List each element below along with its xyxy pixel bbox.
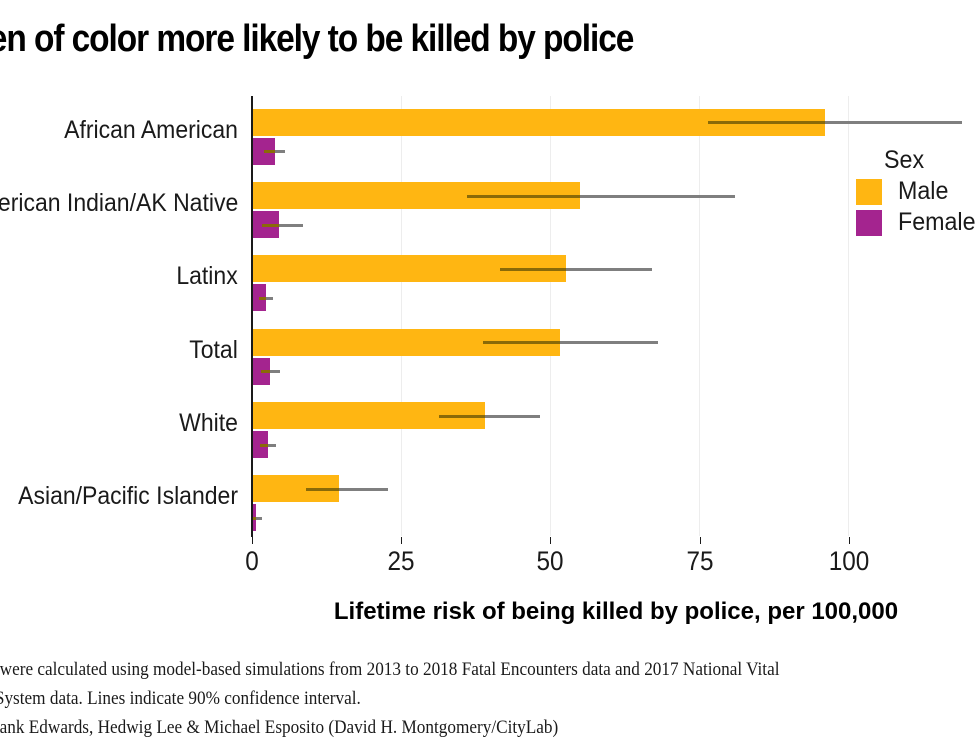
ci-line-female-4-inside [260,444,268,447]
ci-line-female-1-inside [262,224,279,227]
gridline-100 [848,96,849,536]
legend-swatch-male [856,179,882,205]
legend-item-female[interactable]: Female [856,208,980,237]
footnote: ables were calculated using model-based … [0,656,918,743]
legend-swatch-female [856,210,882,236]
x-tick-label-1: 25 [365,546,437,577]
footnote-line-2: stics System data. Lines indicate 90% co… [0,685,918,714]
ci-line-female-3-inside [261,370,271,373]
x-tick-mark-1 [401,537,402,544]
x-tick-label-2: 50 [514,546,586,577]
ci-line-female-0-outside [275,150,285,153]
ci-line-female-2-outside [266,297,273,300]
footnote-line-1: ables were calculated using model-based … [0,656,918,685]
ci-line-male-5-inside [306,488,339,491]
ci-line-female-3-outside [270,370,280,373]
ci-line-male-0-inside [708,121,824,124]
y-tick-label-1: erican Indian/AK Native [0,189,238,218]
gridline-25 [401,96,402,536]
x-tick-label-3: 75 [664,546,736,577]
y-tick-label-0: African American [64,116,238,145]
gridline-75 [699,96,700,536]
x-axis-title: Lifetime risk of being killed by police,… [252,598,980,626]
ci-line-female-4-outside [268,444,276,447]
x-tick-mark-3 [700,537,701,544]
y-axis-line [251,96,253,537]
legend-title: Sex [884,146,980,175]
ci-line-male-2-inside [500,268,566,271]
ci-line-male-2-outside [566,268,652,271]
y-tick-label-2: Latinx [177,262,238,291]
footnote-line-3: ce: Frank Edwards, Hedwig Lee & Michael … [0,714,918,743]
x-tick-mark-0 [252,537,253,544]
y-tick-label-5: Asian/Pacific Islander [18,482,238,511]
legend-item-male[interactable]: Male [856,177,980,206]
x-tick-mark-2 [550,537,551,544]
ci-line-male-1-outside [580,195,735,198]
chart-plot: African Americanerican Indian/AK NativeL… [0,0,980,660]
ci-line-female-5-outside [256,517,261,520]
legend-label-male: Male [898,177,948,206]
ci-line-male-0-outside [825,121,962,124]
y-tick-label-3: Total [189,336,238,365]
ci-line-male-1-inside [467,195,580,198]
legend-label-female: Female [898,208,976,237]
ci-line-female-0-inside [264,150,275,153]
ci-line-male-3-outside [560,341,658,344]
x-tick-label-4: 100 [813,546,885,577]
x-tick-mark-4 [849,537,850,544]
ci-line-female-1-outside [279,224,303,227]
ci-line-male-3-inside [483,341,560,344]
gridline-50 [550,96,551,536]
x-tick-label-0: 0 [216,546,288,577]
y-tick-label-4: White [179,409,238,438]
legend: Sex Male Female [856,146,980,237]
ci-line-male-5-outside [339,488,388,491]
ci-line-male-4-outside [485,415,540,418]
ci-line-male-4-inside [439,415,484,418]
